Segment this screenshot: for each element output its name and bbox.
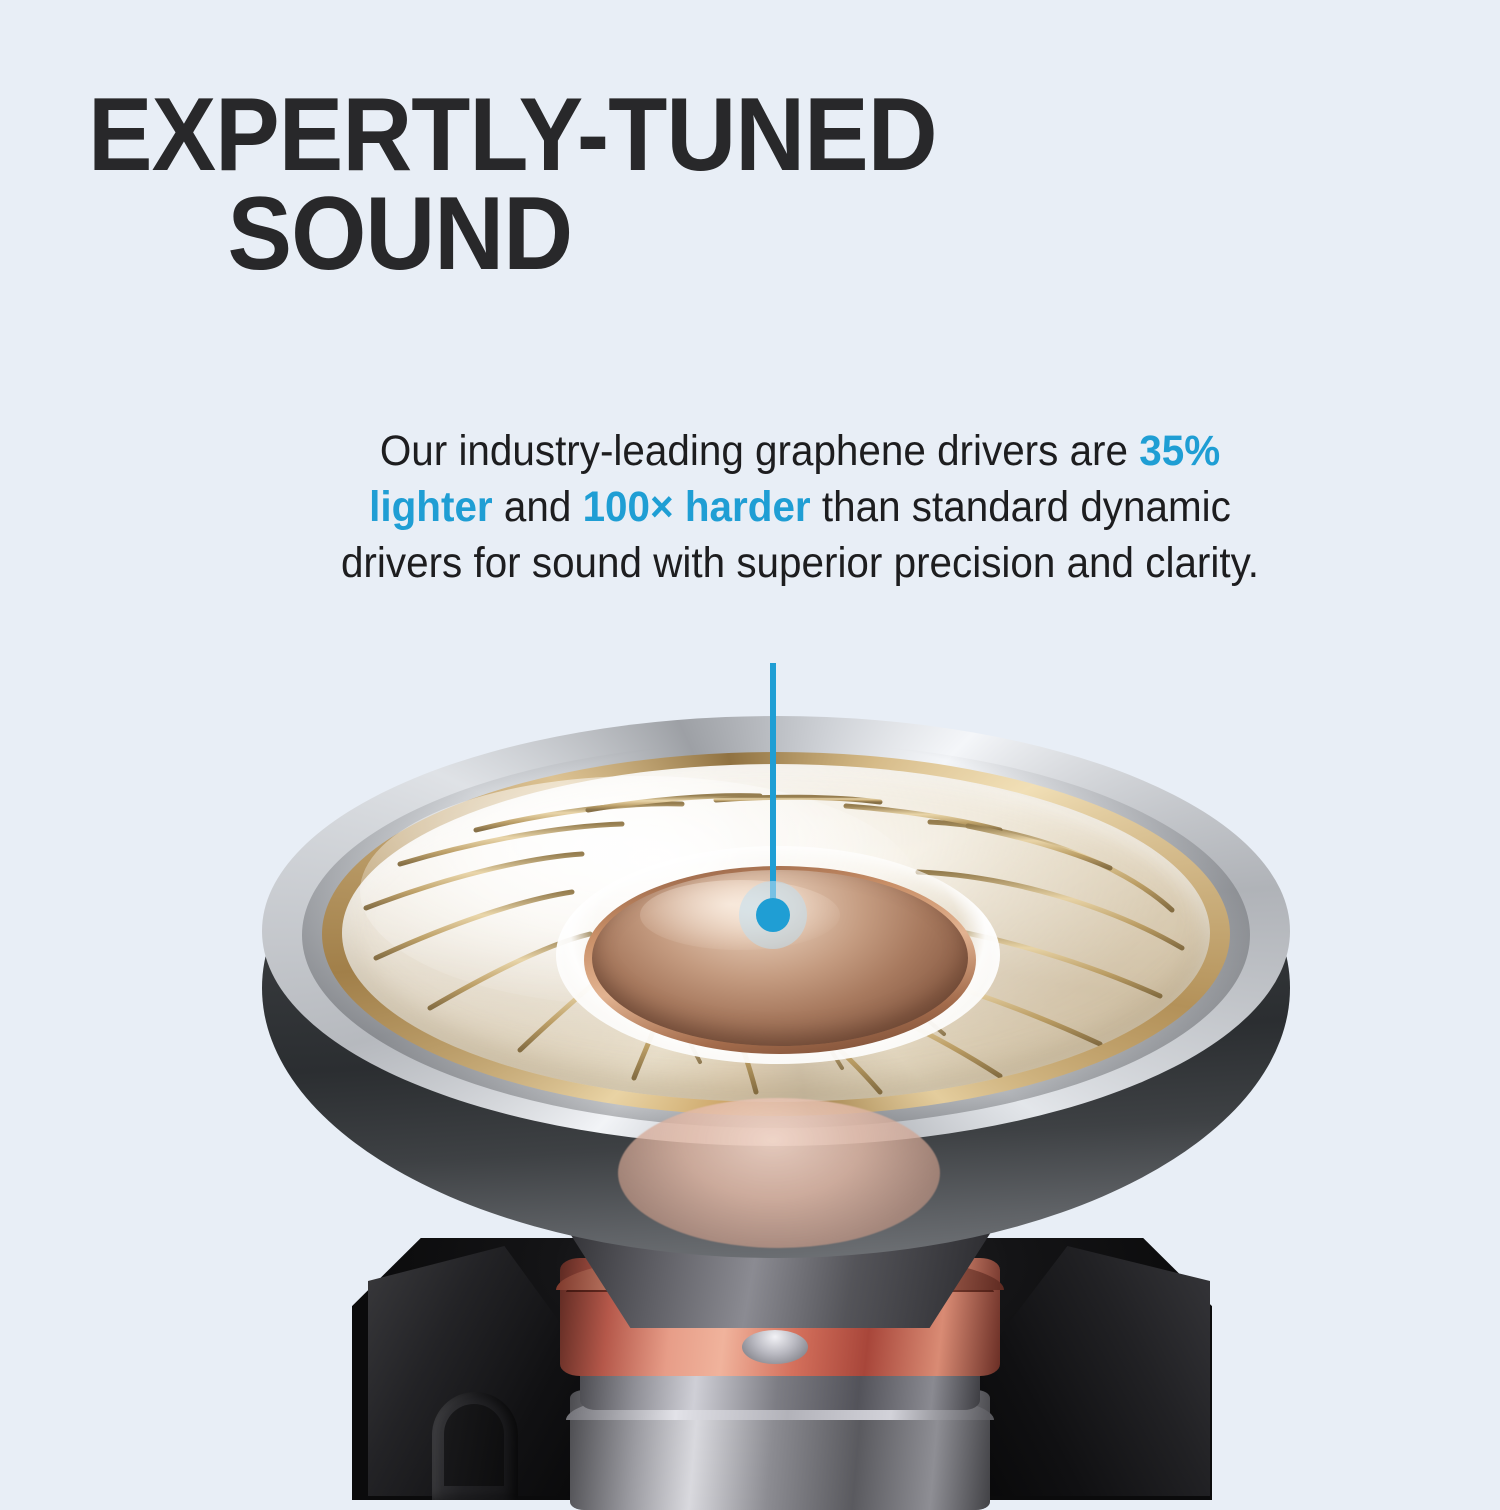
dome-specular-highlight (640, 880, 840, 950)
radial-rib-spokes (0, 0, 1500, 1500)
product-illustration (0, 0, 1500, 1500)
